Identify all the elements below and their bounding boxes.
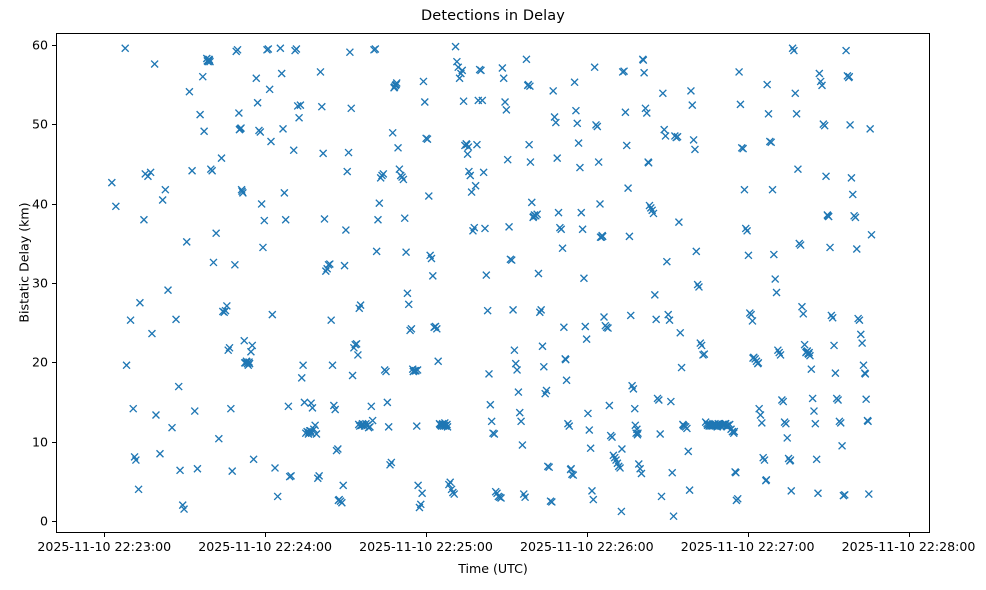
scatter-point	[631, 405, 638, 412]
scatter-point	[229, 468, 236, 475]
scatter-point	[678, 364, 685, 371]
scatter-point	[675, 219, 682, 226]
scatter-point	[147, 169, 154, 176]
scatter-point	[122, 45, 129, 52]
scatter-point	[296, 114, 303, 121]
scatter-point	[535, 270, 542, 277]
scatter-point	[189, 167, 196, 174]
scatter-point	[156, 450, 163, 457]
scatter-point	[387, 461, 394, 468]
scatter-point	[321, 215, 328, 222]
scatter-point	[354, 351, 361, 358]
scatter-point	[560, 324, 567, 331]
scatter-point	[435, 358, 442, 365]
scatter-point	[640, 57, 647, 64]
scatter-point	[152, 412, 159, 419]
y-tick-label: 60	[32, 37, 48, 52]
scatter-point	[108, 179, 115, 186]
scatter-point	[773, 289, 780, 296]
scatter-point	[142, 170, 149, 177]
scatter-point	[847, 121, 854, 128]
scatter-point	[801, 341, 808, 348]
scatter-point	[413, 423, 420, 430]
scatter-point	[499, 65, 506, 72]
scatter-point	[859, 340, 866, 347]
scatter-point	[571, 79, 578, 86]
x-tick-mark	[587, 533, 588, 537]
y-tick-label: 50	[32, 117, 48, 132]
scatter-point	[618, 508, 625, 515]
scatter-point	[823, 173, 830, 180]
scatter-point	[274, 493, 281, 500]
scatter-point	[258, 200, 265, 207]
y-tick-mark	[52, 283, 56, 284]
scatter-point	[405, 301, 412, 308]
scatter-point	[663, 258, 670, 265]
scatter-point	[175, 383, 182, 390]
x-tick-label: 2025-11-10 22:23:00	[37, 539, 171, 554]
scatter-point	[588, 487, 595, 494]
scatter-point	[606, 402, 613, 409]
scatter-point	[584, 410, 591, 417]
scatter-point	[658, 493, 665, 500]
x-tick-mark	[748, 533, 749, 537]
scatter-point	[148, 330, 155, 337]
scatter-point	[800, 310, 807, 317]
scatter-point	[776, 349, 783, 356]
scatter-point	[127, 317, 134, 324]
scatter-point	[808, 366, 815, 373]
scatter-point	[528, 199, 535, 206]
scatter-point	[638, 470, 645, 477]
scatter-point	[341, 262, 348, 269]
y-tick-label: 40	[32, 196, 48, 211]
scatter-point	[368, 403, 375, 410]
scatter-point	[403, 249, 410, 256]
scatter-point	[301, 399, 308, 406]
scatter-point	[579, 226, 586, 233]
scatter-point	[793, 110, 800, 117]
scatter-point	[514, 366, 521, 373]
scatter-point	[809, 395, 816, 402]
y-tick-mark	[52, 204, 56, 205]
scatter-point	[572, 107, 579, 114]
scatter-point	[433, 325, 440, 332]
y-tick-label: 20	[32, 355, 48, 370]
scatter-point	[281, 189, 288, 196]
scatter-point	[199, 73, 206, 80]
scatter-point	[626, 233, 633, 240]
scatter-point	[519, 442, 526, 449]
scatter-point	[698, 342, 705, 349]
scatter-point	[421, 98, 428, 105]
scatter-point	[853, 246, 860, 253]
scatter-point	[374, 216, 381, 223]
x-tick-mark	[426, 533, 427, 537]
scatter-point	[670, 513, 677, 520]
scatter-point	[816, 70, 823, 77]
scatter-point	[480, 169, 487, 176]
x-tick-label: 2025-11-10 22:24:00	[198, 539, 332, 554]
scatter-point	[210, 259, 217, 266]
scatter-point	[123, 362, 130, 369]
y-axis-label: Bistatic Delay (km)	[17, 163, 32, 363]
scatter-point	[344, 168, 351, 175]
scatter-points-layer	[57, 34, 929, 532]
scatter-point	[653, 316, 660, 323]
scatter-point	[827, 244, 834, 251]
scatter-point	[742, 225, 749, 232]
scatter-point	[812, 420, 819, 427]
scatter-point	[320, 150, 327, 157]
scatter-point	[554, 155, 561, 162]
scatter-point	[667, 398, 674, 405]
scatter-point	[213, 230, 220, 237]
scatter-point	[765, 110, 772, 117]
y-tick-label: 10	[32, 434, 48, 449]
scatter-point	[420, 78, 427, 85]
scatter-point	[784, 434, 791, 441]
scatter-point	[637, 465, 644, 472]
scatter-point	[269, 311, 276, 318]
scatter-point	[485, 370, 492, 377]
y-tick-mark	[52, 442, 56, 443]
scatter-point	[590, 496, 597, 503]
scatter-point	[839, 442, 846, 449]
scatter-point	[388, 459, 395, 466]
scatter-point	[539, 343, 546, 350]
x-tick-label: 2025-11-10 22:26:00	[520, 539, 654, 554]
plot-area	[56, 33, 930, 533]
scatter-point	[316, 472, 323, 479]
x-tick-mark	[909, 533, 910, 537]
scatter-point	[415, 482, 422, 489]
scatter-point	[504, 156, 511, 163]
scatter-point	[687, 87, 694, 94]
scatter-point	[342, 227, 349, 234]
scatter-point	[576, 164, 583, 171]
scatter-point	[385, 423, 392, 430]
scatter-point	[314, 475, 321, 482]
scatter-point	[789, 45, 796, 52]
scatter-point	[298, 374, 305, 381]
scatter-point	[691, 146, 698, 153]
scatter-point	[349, 372, 356, 379]
scatter-point	[810, 408, 817, 415]
scatter-point	[253, 75, 260, 82]
scatter-point	[790, 47, 797, 54]
scatter-point	[848, 174, 855, 181]
scatter-point	[151, 61, 158, 68]
scatter-point	[169, 424, 176, 431]
scatter-point	[348, 105, 355, 112]
scatter-point	[512, 360, 519, 367]
scatter-point	[601, 314, 608, 321]
scatter-point	[377, 174, 384, 181]
scatter-point	[346, 49, 353, 56]
scatter-point	[515, 389, 522, 396]
scatter-point	[452, 43, 459, 50]
scatter-point	[254, 99, 261, 106]
scatter-point	[159, 197, 166, 204]
scatter-point	[552, 119, 559, 126]
scatter-point	[136, 299, 143, 306]
scatter-point	[400, 176, 407, 183]
scatter-point	[112, 203, 119, 210]
scatter-point	[215, 435, 222, 442]
scatter-point	[661, 126, 668, 133]
scatter-point	[460, 98, 467, 105]
scatter-point	[231, 261, 238, 268]
scatter-point	[693, 248, 700, 255]
scatter-point	[395, 144, 402, 151]
scatter-point	[635, 461, 642, 468]
scatter-point	[695, 283, 702, 290]
scatter-point	[677, 329, 684, 336]
scatter-point	[186, 88, 193, 95]
scatter-point	[868, 231, 875, 238]
scatter-point	[618, 446, 625, 453]
chart-title: Detections in Delay	[0, 8, 986, 24]
scatter-point	[568, 465, 575, 472]
scatter-point	[651, 291, 658, 298]
scatter-point	[227, 405, 234, 412]
scatter-point	[694, 281, 701, 288]
x-tick-mark	[104, 533, 105, 537]
scatter-point	[277, 45, 284, 52]
scatter-point	[419, 490, 426, 497]
scatter-point	[760, 454, 767, 461]
scatter-point	[309, 404, 316, 411]
scatter-point	[867, 125, 874, 132]
scatter-point	[511, 347, 518, 354]
scatter-point	[329, 362, 336, 369]
scatter-point	[559, 245, 566, 252]
scatter-point	[787, 457, 794, 464]
scatter-point	[623, 142, 630, 149]
scatter-point	[798, 303, 805, 310]
scatter-point	[282, 216, 289, 223]
scatter-point	[815, 490, 822, 497]
scatter-point	[595, 159, 602, 166]
scatter-point	[506, 223, 513, 230]
scatter-point	[376, 200, 383, 207]
scatter-point	[183, 238, 190, 245]
scatter-point	[744, 227, 751, 234]
scatter-point	[165, 287, 172, 294]
scatter-point	[536, 309, 543, 316]
scatter-point	[197, 111, 204, 118]
scatter-point	[562, 356, 569, 363]
scatter-point	[249, 342, 256, 349]
scatter-point	[749, 317, 756, 324]
scatter-point	[736, 68, 743, 75]
scatter-point	[345, 149, 352, 156]
scatter-point	[177, 467, 184, 474]
scatter-point	[794, 166, 801, 173]
y-tick-mark	[52, 521, 56, 522]
scatter-point	[503, 106, 510, 113]
scatter-point	[685, 448, 692, 455]
scatter-point	[464, 151, 471, 158]
scatter-point	[669, 469, 676, 476]
scatter-point	[574, 120, 581, 127]
y-tick-label: 30	[32, 276, 48, 291]
scatter-point	[770, 251, 777, 258]
scatter-point	[645, 159, 652, 166]
scatter-point	[468, 189, 475, 196]
scatter-point	[250, 456, 257, 463]
scatter-point	[516, 409, 523, 416]
scatter-point	[582, 323, 589, 330]
scatter-point	[757, 412, 764, 419]
scatter-point	[223, 302, 230, 309]
scatter-point	[745, 252, 752, 259]
scatter-point	[483, 272, 490, 279]
scatter-point	[369, 417, 376, 424]
scatter-point	[280, 125, 287, 132]
scatter-point	[550, 87, 557, 94]
scatter-point	[657, 430, 664, 437]
scatter-point	[642, 105, 649, 112]
scatter-point	[401, 215, 408, 222]
scatter-point	[788, 487, 795, 494]
scatter-point	[318, 103, 325, 110]
scatter-point	[479, 97, 486, 104]
scatter-point	[447, 479, 454, 486]
scatter-point	[863, 396, 870, 403]
scatter-point	[235, 110, 242, 117]
scatter-point	[173, 316, 180, 323]
scatter-point	[741, 186, 748, 193]
scatter-point	[384, 399, 391, 406]
scatter-point	[580, 275, 587, 282]
scatter-point	[429, 272, 436, 279]
scatter-point	[261, 217, 268, 224]
scatter-point	[641, 69, 648, 76]
scatter-point	[690, 136, 697, 143]
scatter-point	[278, 70, 285, 77]
scatter-point	[828, 312, 835, 319]
scatter-point	[564, 420, 571, 427]
scatter-point	[285, 403, 292, 410]
scatter-point	[857, 331, 864, 338]
scatter-point	[862, 370, 869, 377]
scatter-point	[225, 347, 232, 354]
y-tick-mark	[52, 362, 56, 363]
scatter-point	[472, 182, 479, 189]
scatter-point	[575, 140, 582, 147]
y-tick-mark	[52, 45, 56, 46]
scatter-point	[627, 312, 634, 319]
scatter-point	[563, 377, 570, 384]
scatter-point	[300, 362, 307, 369]
scatter-point	[162, 186, 169, 193]
scatter-point	[328, 317, 335, 324]
scatter-point	[643, 110, 650, 117]
scatter-point	[625, 185, 632, 192]
scatter-point	[832, 370, 839, 377]
scatter-point	[737, 101, 744, 108]
scatter-point	[130, 405, 137, 412]
scatter-point	[194, 465, 201, 472]
scatter-point	[201, 128, 208, 135]
scatter-point	[226, 344, 233, 351]
scatter-point	[756, 405, 763, 412]
scatter-point	[813, 456, 820, 463]
scatter-point	[484, 307, 491, 314]
scatter-point	[831, 342, 838, 349]
scatter-point	[792, 90, 799, 97]
scatter-point	[266, 86, 273, 93]
scatter-point	[425, 193, 432, 200]
scatter-point	[290, 147, 297, 154]
scatter-point	[772, 276, 779, 283]
scatter-point	[587, 445, 594, 452]
scatter-point	[259, 244, 266, 251]
scatter-point	[526, 141, 533, 148]
scatter-point	[396, 166, 403, 173]
scatter-point	[487, 401, 494, 408]
scatter-point	[510, 306, 517, 313]
scatter-point	[583, 336, 590, 343]
x-tick-label: 2025-11-10 22:25:00	[359, 539, 493, 554]
scatter-point	[340, 482, 347, 489]
scatter-point	[763, 476, 770, 483]
scatter-point	[865, 491, 872, 498]
scatter-point	[540, 363, 547, 370]
scatter-point	[308, 400, 315, 407]
scatter-point	[523, 56, 530, 63]
scatter-point	[500, 75, 507, 82]
scatter-point	[140, 216, 147, 223]
scatter-point	[769, 186, 776, 193]
scatter-point	[135, 486, 142, 493]
scatter-point	[566, 423, 573, 430]
scatter-point	[527, 159, 534, 166]
scatter-point	[764, 81, 771, 88]
scatter-point	[755, 359, 762, 366]
scatter-point	[597, 200, 604, 207]
scatter-point	[322, 268, 329, 275]
scatter-point	[247, 348, 254, 355]
scatter-point	[666, 317, 673, 324]
scatter-point	[241, 337, 248, 344]
scatter-point	[860, 362, 867, 369]
scatter-point	[473, 141, 480, 148]
x-tick-label: 2025-11-10 22:28:00	[842, 539, 976, 554]
scatter-point	[843, 47, 850, 54]
scatter-point	[272, 464, 279, 471]
x-tick-mark	[265, 533, 266, 537]
scatter-point	[555, 209, 562, 216]
scatter-point	[389, 129, 396, 136]
scatter-point	[622, 109, 629, 116]
scatter-point	[761, 457, 768, 464]
scatter-point	[697, 340, 704, 347]
scatter-point	[373, 248, 380, 255]
x-axis-label: Time (UTC)	[0, 561, 986, 576]
y-tick-mark	[52, 124, 56, 125]
scatter-point	[829, 314, 836, 321]
scatter-point	[456, 75, 463, 82]
scatter-point	[689, 102, 696, 109]
scatter-point	[578, 209, 585, 216]
scatter-point	[267, 138, 274, 145]
scatter-point	[849, 191, 856, 198]
chart-figure: Detections in Delay 2025-11-10 22:23:002…	[0, 0, 986, 590]
scatter-point	[659, 90, 666, 97]
